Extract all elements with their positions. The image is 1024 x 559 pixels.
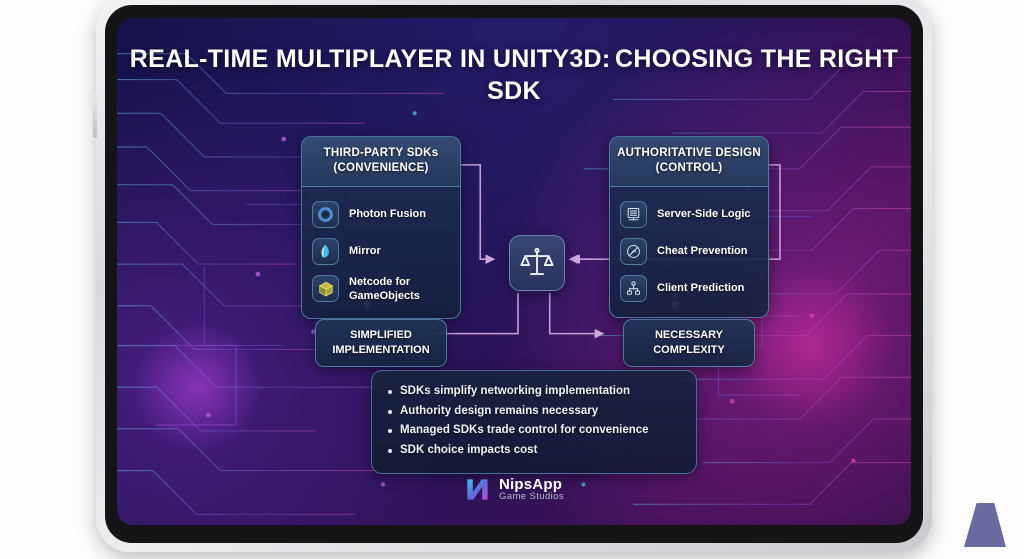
server-side-logic-label: Server-Side Logic	[657, 207, 751, 221]
slide-title: REAL-TIME MULTIPLAYER IN UNITY3D: CHOOSI…	[117, 44, 911, 107]
mirror-label: Mirror	[349, 244, 381, 258]
brand-text: NipsApp Game Studios	[499, 477, 564, 503]
cube-icon	[312, 275, 339, 302]
outcome-left-line-2: IMPLEMENTATION	[322, 343, 440, 358]
list-item: SDKs simplify networking implementation	[388, 382, 680, 402]
outcome-left-line-1: SIMPLIFIED	[322, 328, 440, 343]
tablet-bezel: REAL-TIME MULTIPLAYER IN UNITY3D: CHOOSI…	[105, 5, 923, 543]
outcome-right-line-1: NECESSARY	[630, 328, 748, 343]
third-party-sdks-card[interactable]: THIRD-PARTY SDKs (CONVENIENCE) Photo	[301, 136, 461, 319]
mirror-shard-icon	[312, 238, 339, 265]
right-card-title-line-1: AUTHORITATIVE DESIGN	[616, 146, 762, 161]
authoritative-design-card-header: AUTHORITATIVE DESIGN (CONTROL)	[610, 137, 768, 187]
list-item-photon-fusion[interactable]: Photon Fusion	[312, 196, 450, 233]
list-item: Managed SDKs trade control for convenien…	[388, 421, 680, 441]
bullet-dot-icon	[388, 429, 392, 433]
server-rack-icon	[620, 201, 647, 228]
nipsapp-n-logo	[464, 476, 491, 503]
list-item-mirror[interactable]: Mirror	[312, 233, 450, 270]
title-line-1: REAL-TIME MULTIPLAYER IN UNITY3D:	[130, 45, 611, 73]
third-party-sdks-card-header: THIRD-PARTY SDKs (CONVENIENCE)	[302, 137, 460, 187]
photon-fusion-label: Photon Fusion	[349, 207, 426, 221]
photon-ring-icon	[312, 201, 339, 228]
no-cheat-icon	[620, 238, 647, 265]
list-item: SDK choice impacts cost	[388, 441, 680, 461]
netcode-gameobjects-label: Netcode for GameObjects	[349, 275, 450, 303]
outcome-simplified-implementation[interactable]: SIMPLIFIED IMPLEMENTATION	[315, 319, 447, 367]
key-takeaways-box: SDKs simplify networking implementation …	[371, 370, 697, 474]
tablet-device-frame: REAL-TIME MULTIPLAYER IN UNITY3D: CHOOSI…	[96, 0, 932, 552]
left-card-title-line-1: THIRD-PARTY SDKs	[308, 146, 454, 161]
bullet-text-1: SDKs simplify networking implementation	[400, 384, 630, 400]
brand-tagline: Game Studios	[499, 492, 564, 502]
bullet-text-4: SDK choice impacts cost	[400, 443, 537, 459]
slide-canvas: REAL-TIME MULTIPLAYER IN UNITY3D: CHOOSI…	[117, 18, 911, 525]
list-item-server-side-logic[interactable]: Server-Side Logic	[620, 196, 758, 233]
list-item-client-prediction[interactable]: Client Prediction	[620, 270, 758, 307]
balance-scales-icon	[509, 235, 565, 291]
bullet-text-2: Authority design remains necessary	[400, 404, 598, 420]
list-item-cheat-prevention[interactable]: Cheat Prevention	[620, 233, 758, 270]
bullet-text-3: Managed SDKs trade control for convenien…	[400, 423, 649, 439]
bullet-dot-icon	[388, 410, 392, 414]
authoritative-design-card[interactable]: AUTHORITATIVE DESIGN (CONTROL)	[609, 136, 769, 318]
network-tree-icon	[620, 275, 647, 302]
outcome-right-line-2: COMPLEXITY	[630, 343, 748, 358]
right-card-title-line-2: (CONTROL)	[616, 161, 762, 176]
volume-button[interactable]	[93, 92, 97, 138]
brand-name: NipsApp	[499, 477, 564, 493]
client-prediction-label: Client Prediction	[657, 281, 744, 295]
corner-decoration-shape	[964, 503, 1006, 547]
list-item-netcode-gameobjects[interactable]: Netcode for GameObjects	[312, 270, 450, 308]
cheat-prevention-label: Cheat Prevention	[657, 244, 747, 258]
left-card-title-line-2: (CONVENIENCE)	[308, 161, 454, 176]
bullet-dot-icon	[388, 390, 392, 394]
brand-footer: NipsApp Game Studios	[117, 476, 911, 503]
authoritative-design-card-body: Server-Side Logic Cheat Prevention	[610, 187, 768, 317]
third-party-sdks-card-body: Photon Fusion Mirror	[302, 187, 460, 318]
list-item: Authority design remains necessary	[388, 402, 680, 422]
screenshot-root: REAL-TIME MULTIPLAYER IN UNITY3D: CHOOSI…	[0, 0, 1024, 559]
bullet-dot-icon	[388, 449, 392, 453]
glow-left	[133, 322, 263, 452]
outcome-necessary-complexity[interactable]: NECESSARY COMPLEXITY	[623, 319, 755, 367]
